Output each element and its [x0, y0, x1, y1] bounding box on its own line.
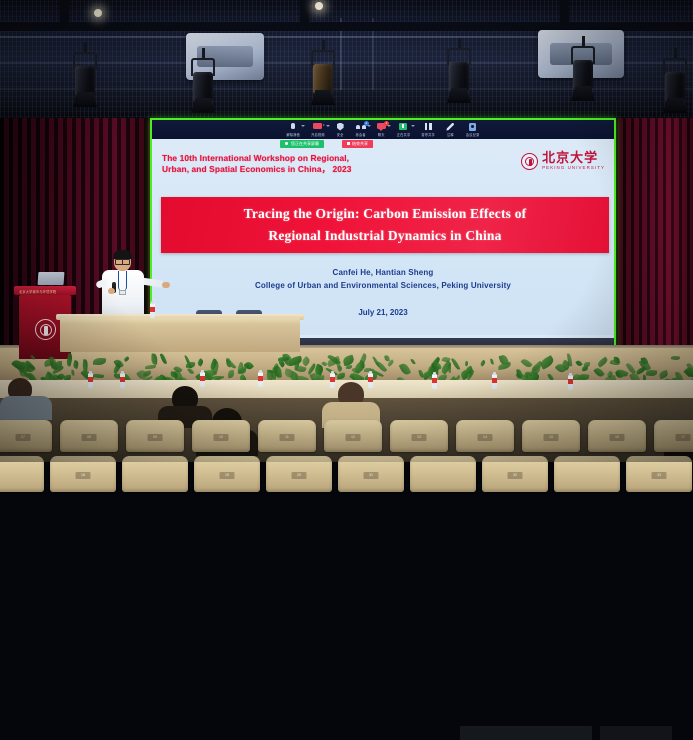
toolbar-label: 正在共享: [397, 132, 411, 137]
record-icon: [468, 123, 477, 131]
ceiling-beam: [60, 0, 69, 28]
presentation-slide: The 10th International Workshop on Regio…: [152, 148, 614, 335]
plant-leaf: [531, 364, 541, 374]
logo-chinese-name: 北京大学: [542, 151, 605, 165]
water-bottle: [200, 372, 205, 387]
pku-seal-icon: [35, 319, 56, 340]
chevron-down-icon[interactable]: [411, 125, 415, 127]
audience-seat: 33: [626, 456, 692, 492]
sharing-indicator: 您正在共享屏幕: [280, 140, 324, 148]
pause-icon: [424, 123, 433, 131]
plant-leaf: [398, 361, 410, 375]
toolbar-label: 安全: [337, 132, 344, 137]
auditorium-scene: 解除静音 开启视频 安全 参会者 2 聊天 1: [0, 0, 693, 462]
water-bottle: [88, 373, 93, 388]
plant-leaf: [575, 359, 582, 367]
stop-share-label: 结束共享: [352, 141, 368, 147]
stage-spotlight: [70, 52, 100, 108]
plant-leaf: [30, 355, 36, 361]
affiliation: College of Urban and Environmental Scien…: [152, 279, 614, 292]
audience-seat: 16: [588, 420, 646, 452]
chevron-down-icon[interactable]: [367, 125, 371, 127]
presenter-glasses: [115, 259, 130, 263]
water-bottle: [258, 372, 263, 387]
plant-leaf: [645, 370, 656, 377]
presenter-badge: [119, 290, 126, 295]
chevron-down-icon[interactable]: [326, 125, 330, 127]
plant-leaf: [160, 353, 167, 365]
author-block: Canfei He, Hantian Sheng College of Urba…: [152, 266, 614, 317]
seat-number: 32: [508, 472, 523, 479]
audience-seat: 08: [60, 420, 118, 452]
seat-number: 14: [478, 434, 493, 441]
podium-top-banner: 北京大学城市与环境学院: [14, 286, 76, 295]
plant-leaf: [671, 355, 681, 360]
chevron-down-icon[interactable]: [387, 125, 391, 127]
toolbar-label: 开启视频: [311, 132, 325, 137]
audience-seat: 18: [50, 456, 116, 492]
presenter-lanyard: [118, 271, 127, 291]
audience-seat: 10: [192, 420, 250, 452]
plant-leaf: [196, 359, 204, 367]
title-band: Tracing the Origin: Carbon Emission Effe…: [161, 197, 609, 253]
peking-university-logo: 北京大学 PEKING UNIVERSITY: [521, 151, 605, 171]
toolbar-button-pause-share[interactable]: 暂停共享: [421, 123, 435, 137]
audience-seat: 12: [324, 420, 382, 452]
chevron-down-icon[interactable]: [301, 125, 305, 127]
stage-spotlight: [188, 58, 218, 114]
toolbar-button-share[interactable]: 正在共享: [397, 123, 411, 137]
audience-seat: 13: [390, 420, 448, 452]
main-title-line2: Regional Industrial Dynamics in China: [268, 228, 501, 244]
authors-names: Canfei He, Hantian Sheng: [152, 266, 614, 279]
plant-leaf: [490, 358, 494, 364]
toolbar-button-participants[interactable]: 参会者 2: [356, 123, 366, 137]
workshop-title-line2: Urban, and Spatial Economics in China， 2…: [162, 164, 462, 175]
stage-spotlight: [308, 50, 338, 106]
toolbar-label: 参会者: [356, 132, 366, 137]
audience-area: 07 08 09 10 11 12 13 14 15 16 17 18 19 2…: [0, 380, 693, 462]
seat-number: 16: [610, 434, 625, 441]
microphone-icon: [289, 123, 298, 131]
presenter-hair: [113, 250, 132, 259]
seat-number: 12: [346, 434, 361, 441]
water-bottle: [568, 375, 573, 390]
plant-leaf: [73, 360, 80, 369]
stage-spotlight: [660, 58, 690, 114]
workshop-title: The 10th International Workshop on Regio…: [162, 153, 462, 175]
plant-leaf: [82, 359, 88, 371]
stage-spotlight: [444, 48, 474, 104]
attendee-silhouette: [0, 396, 52, 420]
audience-seat: 07: [0, 420, 52, 452]
toolbar-button-mic[interactable]: 解除静音: [287, 123, 301, 137]
plant-leaf: [93, 357, 106, 365]
seat-number: 18: [76, 472, 91, 479]
seat-number: 10: [214, 434, 229, 441]
water-bottle: [432, 374, 437, 389]
stage-spotlight: [568, 46, 598, 102]
audience-seat: [122, 456, 188, 492]
audience-seat: 32: [482, 456, 548, 492]
logo-english-name: PEKING UNIVERSITY: [542, 165, 605, 171]
plant-leaf: [451, 357, 461, 371]
toolbar-button-security[interactable]: 安全: [336, 123, 345, 137]
audience-seat: 09: [126, 420, 184, 452]
plant-leaf: [71, 370, 75, 376]
toolbar-label: 解除静音: [287, 132, 301, 137]
workshop-title-line1: The 10th International Workshop on Regio…: [162, 153, 462, 164]
plant-leaf: [301, 357, 311, 367]
plant-leaf: [124, 356, 130, 361]
meeting-toolbar[interactable]: 解除静音 开启视频 安全 参会者 2 聊天 1: [152, 120, 614, 139]
audience-seat: 31: [338, 456, 404, 492]
plant-row: [0, 356, 693, 382]
toolbar-button-video[interactable]: 开启视频: [311, 123, 325, 137]
plant-leaf: [410, 358, 416, 365]
screen-share-icon: [399, 123, 408, 131]
pku-seal-icon: [521, 153, 538, 170]
stage-curtain-right: [615, 118, 693, 363]
audience-seat: 20: [266, 456, 332, 492]
main-title-line1: Tracing the Origin: Carbon Emission Effe…: [244, 206, 527, 222]
plant-leaf: [228, 369, 235, 377]
audience-seat: 14: [456, 420, 514, 452]
toolbar-button-chat[interactable]: 聊天 1: [377, 123, 386, 137]
plant-leaf: [151, 354, 158, 365]
seat-number: 07: [16, 434, 31, 441]
water-bottle: [492, 374, 497, 389]
panel-table: [60, 318, 300, 352]
shield-icon: [336, 123, 345, 131]
ceiling-beam: [300, 0, 309, 28]
toolbar-button-record[interactable]: 会议纪录: [466, 123, 480, 137]
audience-seat: 15: [522, 420, 580, 452]
plant-leaf: [597, 357, 610, 368]
audience-seat: 11: [258, 420, 316, 452]
ceiling-beam: [560, 0, 569, 28]
podium-banner-text: 北京大学城市与环境学院: [19, 289, 56, 294]
toolbar-label: 聊天: [378, 132, 385, 137]
plant-leaf: [440, 361, 454, 375]
presenter-laptop: [36, 272, 66, 287]
water-bottle: [150, 303, 155, 318]
plant-leaf: [357, 353, 368, 368]
plant-leaf: [226, 358, 232, 367]
ceiling-bulb: [94, 9, 102, 17]
water-bottle: [368, 373, 373, 388]
seat-number: 31: [364, 472, 379, 479]
presenter-right-hand: [162, 282, 170, 288]
seat-number: 17: [676, 434, 691, 441]
audience-seat: 19: [194, 456, 260, 492]
ceiling-bulb: [315, 2, 323, 10]
stop-square-icon: [347, 142, 350, 145]
planter-box: [600, 726, 672, 740]
toolbar-label: 暂停共享: [421, 132, 435, 137]
video-camera-icon: [313, 123, 322, 131]
toolbar-label: 会议纪录: [466, 132, 480, 137]
sharing-dot-icon: [285, 142, 288, 145]
seat-number: 13: [412, 434, 427, 441]
plant-leaf: [187, 367, 195, 375]
seat-number: 33: [652, 472, 667, 479]
plant-leaf: [186, 362, 195, 369]
seat-number: 20: [292, 472, 307, 479]
plant-leaf: [521, 357, 533, 369]
toolbar-button-annotate[interactable]: 注释: [446, 123, 455, 137]
plant-leaf: [684, 366, 693, 380]
ceiling: [0, 0, 693, 122]
plant-leaf: [581, 365, 587, 371]
plant-leaf: [464, 360, 469, 366]
audience-seat: [0, 456, 44, 492]
plant-leaf: [594, 366, 606, 379]
planter-box: [460, 726, 592, 740]
plant-leaf: [479, 360, 487, 368]
plant-leaf: [145, 365, 156, 369]
seat-number: 09: [148, 434, 163, 441]
audience-seat: [554, 456, 620, 492]
water-bottle: [120, 373, 125, 388]
presenter-left-hand: [108, 288, 115, 294]
toolbar-label: 注释: [447, 132, 454, 137]
seat-number: 08: [82, 434, 97, 441]
plant-leaf: [93, 372, 105, 378]
seat-number: 11: [280, 434, 295, 441]
stop-share-button[interactable]: 结束共享: [342, 140, 373, 148]
seat-number: 15: [544, 434, 559, 441]
audience-seat: [410, 456, 476, 492]
share-status-strip: 您正在共享屏幕 结束共享: [152, 139, 614, 148]
plant-leaf: [337, 372, 346, 379]
sharing-label: 您正在共享屏幕: [291, 141, 319, 147]
water-bottle: [330, 373, 335, 388]
pen-annotate-icon: [446, 123, 455, 131]
seat-number: 19: [220, 472, 235, 479]
audience-seat: 17: [654, 420, 693, 452]
